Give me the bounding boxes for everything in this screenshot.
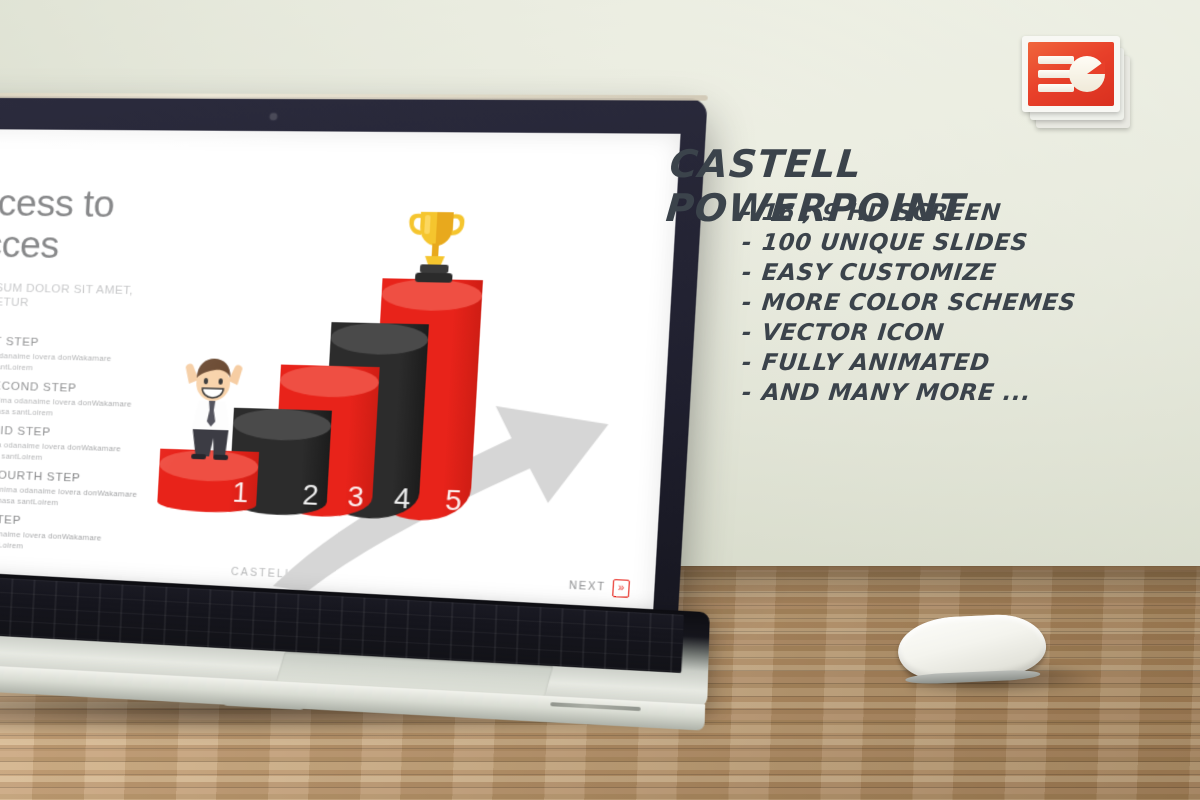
bar-label-1: 1 bbox=[232, 477, 250, 510]
feature-label: MORE COLOR SCHEMES bbox=[761, 290, 1078, 316]
presentation-slide: Process to Succes LOREM IPSUM DOLOR SIT … bbox=[0, 129, 681, 621]
feature-item: -AND MANY MORE ... bbox=[740, 378, 1163, 408]
webcam-icon bbox=[270, 113, 277, 119]
laptop-lid: Process to Succes LOREM IPSUM DOLOR SIT … bbox=[0, 96, 708, 635]
feature-item: -MORE COLOR SCHEMES bbox=[740, 288, 1163, 318]
feature-item: -16 ; 9 HD SCREEN bbox=[740, 198, 1163, 228]
slide-stack-front bbox=[1022, 36, 1120, 112]
bar-label-2: 2 bbox=[302, 479, 320, 512]
feature-label: EASY CUSTOMIZE bbox=[761, 260, 998, 286]
feature-label: AND MANY MORE ... bbox=[761, 380, 1033, 406]
feature-item: -VECTOR ICON bbox=[740, 318, 1163, 348]
pie-chart-icon bbox=[1069, 56, 1105, 92]
feature-item: -100 UNIQUE SLIDES bbox=[740, 228, 1163, 258]
bar-label-5: 5 bbox=[444, 485, 462, 518]
bar-line-3 bbox=[1038, 84, 1074, 92]
feature-label: FULLY ANIMATED bbox=[761, 350, 991, 376]
laptop: Process to Succes LOREM IPSUM DOLOR SIT … bbox=[0, 96, 730, 696]
feature-list: -16 ; 9 HD SCREEN -100 UNIQUE SLIDES -EA… bbox=[742, 198, 1162, 408]
feature-label: 100 UNIQUE SLIDES bbox=[761, 230, 1030, 256]
scene: Process to Succes LOREM IPSUM DOLOR SIT … bbox=[0, 0, 1200, 800]
feature-label: 16 ; 9 HD SCREEN bbox=[761, 200, 1003, 226]
feature-item: -EASY CUSTOMIZE bbox=[740, 258, 1163, 288]
podium-bar-chart: 1 2 3 bbox=[153, 172, 643, 603]
headline-brand: CASTELL bbox=[668, 142, 864, 186]
bar-line-1 bbox=[1038, 56, 1074, 64]
bar-label-4: 4 bbox=[393, 483, 411, 516]
trophy-icon bbox=[402, 203, 470, 288]
feature-item: -FULLY ANIMATED bbox=[740, 348, 1163, 378]
businessman-icon bbox=[174, 353, 249, 462]
laptop-screen: Process to Succes LOREM IPSUM DOLOR SIT … bbox=[0, 129, 681, 621]
powerpoint-card bbox=[1028, 42, 1114, 106]
slide-subtitle: LOREM IPSUM DOLOR SIT AMET, CONSECTETUR bbox=[0, 280, 193, 314]
powerpoint-icon[interactable] bbox=[1022, 36, 1130, 128]
feature-label: VECTOR ICON bbox=[761, 320, 946, 346]
bar-label-3: 3 bbox=[347, 481, 365, 514]
